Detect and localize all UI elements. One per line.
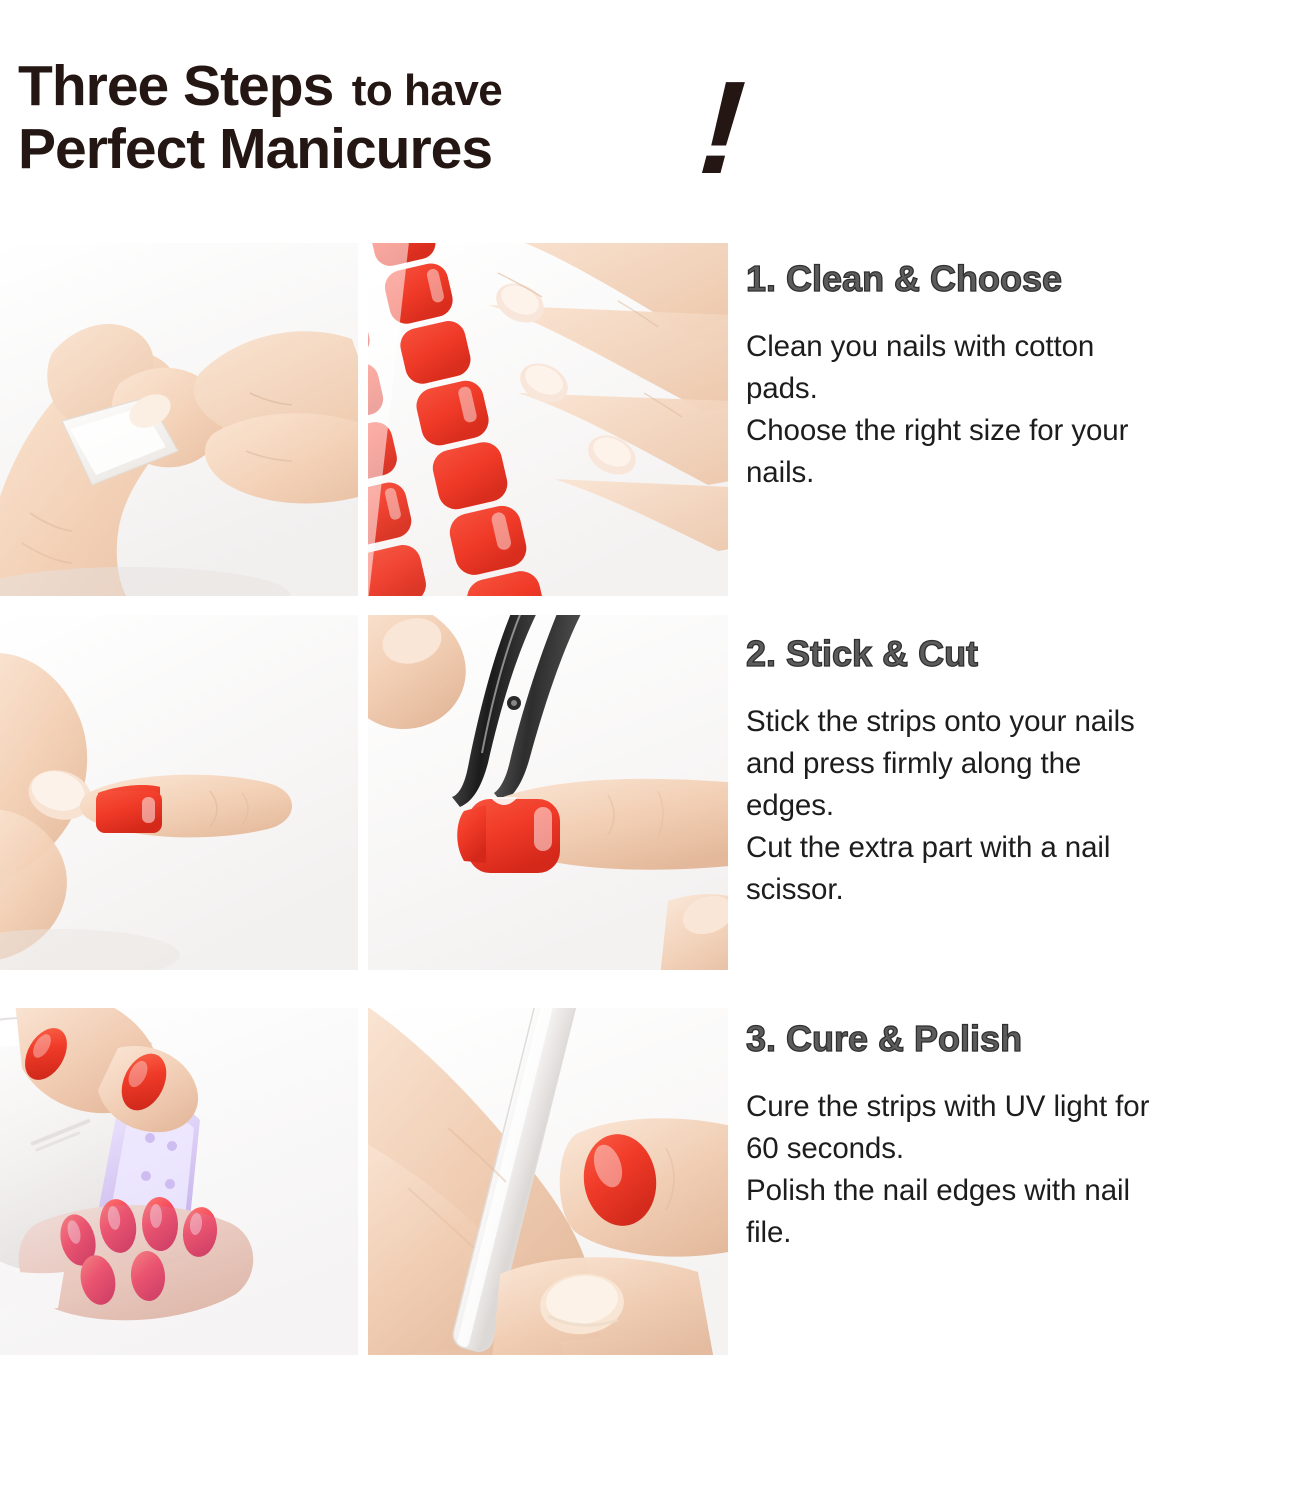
step-3-line-3: Polish the nail edges with nail [746,1170,1300,1212]
photo-apply-strip [0,615,358,970]
title-line1-bold: Three Steps [18,54,333,118]
photo-uv-lamp-cure [0,1008,358,1355]
step-2-body: Stick the strips onto your nails and pre… [746,701,1298,910]
photo-hand-cotton-pad [0,243,358,596]
step-1-line-3: Choose the right size for your [746,410,1298,452]
step-3-body: Cure the strips with UV light for 60 sec… [746,1086,1300,1254]
step-3-line-1: Cure the strips with UV light for [746,1086,1300,1128]
step-2-line-4: Cut the extra part with a nail [746,827,1298,869]
step-2-line-3: edges. [746,785,1298,827]
step-3-text-block: 3. Cure & Polish Cure the strips with UV… [746,1018,1300,1254]
photo-nail-strip-sheet [368,243,728,596]
photo-nail-file [368,1008,728,1355]
photo-cut-scissor [368,615,728,970]
step-3-line-4: file. [746,1212,1300,1254]
step-1-line-2: pads. [746,368,1298,410]
step-2-heading: 2. Stick & Cut [746,633,1298,675]
step-1-heading: 1. Clean & Choose [746,258,1298,300]
step-1-line-1: Clean you nails with cotton [746,326,1298,368]
step-2-text-block: 2. Stick & Cut Stick the strips onto you… [746,633,1298,910]
title-line1-rest: to have [352,66,503,115]
step-1-text-block: 1. Clean & Choose Clean you nails with c… [746,258,1298,494]
step-2-line-5: scissor. [746,869,1298,911]
step-3-heading: 3. Cure & Polish [746,1018,1300,1060]
step-2-line-2: and press firmly along the [746,743,1298,785]
step-1-body: Clean you nails with cotton pads. Choose… [746,326,1298,494]
step-1-line-4: nails. [746,452,1298,494]
title-line2-bold: Perfect Manicures [18,117,492,181]
exclamation-mark: ! [695,62,748,194]
step-2-line-1: Stick the strips onto your nails [746,701,1298,743]
step-3-line-2: 60 seconds. [746,1128,1300,1170]
